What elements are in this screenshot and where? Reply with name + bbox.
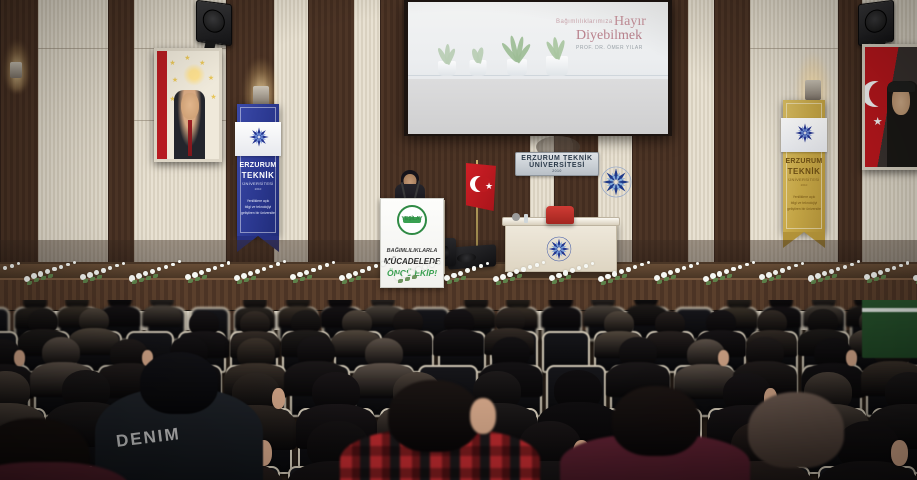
flower-leaf: [349, 278, 354, 282]
flower-leaf: [202, 275, 207, 279]
flower: [577, 266, 581, 270]
flower: [318, 265, 322, 269]
audience-shoulders: [142, 305, 182, 327]
audience-hand-clapping: [272, 388, 285, 409]
flower-leaf: [706, 281, 711, 285]
flower: [780, 268, 785, 273]
conference-hall-photo: ★ ★ ★ ★ ★ ★ ★ ★: [0, 0, 917, 480]
flower: [332, 261, 335, 264]
portrait-erdogan: ★ ★ ★ ★ ★ ★ ★: [154, 48, 222, 162]
flower-leaf: [48, 274, 53, 278]
table-water-bottle: [524, 214, 528, 223]
flower-leaf: [300, 277, 305, 281]
flower: [850, 263, 854, 267]
flower-leaf: [27, 281, 32, 285]
flower: [325, 263, 329, 267]
crescent-icon: [470, 176, 486, 192]
audience-hand-clapping: [846, 350, 857, 366]
crescent-icon: [862, 81, 888, 107]
banner-left-motto3: geliştiren bir üniversite: [237, 211, 279, 215]
flower: [227, 261, 230, 264]
flower: [836, 267, 840, 271]
flower-leaf: [83, 279, 88, 283]
slide-plant: [540, 34, 574, 76]
flower: [843, 265, 847, 269]
audience-hand-clapping: [891, 440, 908, 466]
university-emblem-banner: [794, 122, 816, 144]
flower-leaf: [671, 275, 676, 279]
banner-left-line1: ERZURUM: [237, 162, 279, 169]
flower-leaf: [34, 278, 39, 282]
flower: [731, 267, 736, 272]
table-microphone: [512, 213, 520, 221]
slide-plant: [500, 28, 534, 76]
flower: [213, 266, 217, 270]
stage-flower-arrangement: [0, 252, 917, 286]
flower-leaf: [776, 275, 781, 279]
flower: [437, 261, 440, 264]
flower: [374, 264, 378, 268]
flower: [906, 261, 909, 264]
slide-title-line2: Diyebilmek: [576, 28, 642, 44]
audience-head-hijab: [748, 392, 844, 468]
flower: [115, 264, 119, 268]
flower-leaf: [447, 280, 452, 284]
portrait-figure: [887, 81, 917, 167]
flower: [801, 262, 804, 265]
flower-leaf: [825, 276, 830, 280]
flower: [885, 268, 890, 273]
pa-speaker-right: [858, 0, 894, 46]
flower: [206, 268, 211, 273]
flower-leaf: [293, 279, 298, 283]
flower: [276, 262, 280, 266]
flower-leaf: [146, 276, 151, 280]
banner-right-line1: ERZURUM: [783, 158, 825, 165]
flower-leaf: [664, 277, 669, 281]
flower: [164, 265, 168, 269]
flower-leaf: [720, 276, 725, 280]
speaker-cone-icon: [865, 9, 887, 35]
flower: [486, 262, 489, 265]
flower-leaf: [139, 278, 144, 282]
flower: [682, 266, 686, 270]
wall-sconce-left: [253, 86, 269, 106]
flower-leaf: [601, 281, 606, 285]
jacket-stripe: [862, 308, 917, 312]
venue-sign-line3: 2010: [552, 169, 561, 173]
audience-seating-area: DENIM: [0, 300, 917, 480]
university-emblem-banner: [248, 126, 270, 148]
venue-sign-line1: ERZURUM TEKNİK: [521, 155, 592, 162]
star-icon: ★: [169, 60, 175, 67]
flower-leaf: [496, 281, 501, 285]
flower-leaf: [727, 274, 732, 278]
flower: [101, 268, 106, 273]
flower: [857, 260, 860, 263]
portrait-figure: [174, 90, 205, 159]
flower-leaf: [244, 278, 249, 282]
flower-leaf: [622, 274, 627, 278]
flower: [255, 269, 260, 274]
banner-left-motto2: bilgi ve teknolojiyi: [237, 205, 279, 209]
flower: [633, 265, 637, 269]
flower: [73, 261, 76, 264]
flower: [360, 269, 365, 274]
flower-leaf: [97, 275, 102, 279]
flower: [423, 265, 427, 269]
flower-leaf: [762, 279, 767, 283]
flower: [479, 264, 483, 268]
flower-leaf: [90, 277, 95, 281]
wall-sconce-far-left: [10, 62, 22, 78]
flower: [591, 262, 594, 265]
banner-right-line2: TEKNİK: [783, 167, 825, 176]
slide-presenter: PROF. DR. ÖMER YILAR: [576, 45, 643, 51]
banner-right-line4: 2010: [783, 183, 825, 187]
star-icon: ★: [184, 55, 190, 62]
audience-shoulders: [433, 329, 483, 356]
flower-cluster: [0, 252, 917, 286]
flower-leaf: [832, 274, 837, 278]
flower-leaf: [818, 278, 823, 282]
star-icon: ★: [485, 182, 493, 191]
flower: [220, 264, 224, 268]
flower: [542, 261, 545, 264]
flower: [17, 262, 20, 265]
flower: [367, 266, 371, 270]
flower-leaf: [510, 277, 515, 281]
flower-leaf: [769, 277, 774, 281]
flower-leaf: [132, 280, 137, 284]
flower: [738, 265, 742, 269]
wall-panel-seam: [38, 48, 108, 49]
audience-head: [140, 352, 218, 414]
audience-head: [388, 380, 480, 452]
flower-leaf: [552, 280, 557, 284]
wall-sconce-right: [805, 80, 821, 100]
flower: [388, 260, 391, 263]
flower-leaf: [811, 280, 816, 284]
banner-right-motto3: geliştiren bir üniversite: [783, 207, 825, 211]
star-icon: ★: [210, 94, 216, 101]
flower-leaf: [566, 275, 571, 279]
flower: [752, 261, 755, 264]
projection-screen-lower: [408, 79, 668, 134]
flower: [458, 271, 463, 276]
flower: [157, 267, 161, 271]
banner-left-blue: ERZURUM TEKNİK ÜNİVERSİTESİ 2010 Yenilik…: [237, 104, 279, 236]
flower-leaf: [405, 277, 410, 281]
flower: [269, 265, 273, 269]
flower: [899, 264, 903, 268]
flower: [59, 265, 63, 269]
flower-leaf: [251, 276, 256, 280]
flower: [626, 267, 631, 272]
flower: [794, 264, 798, 268]
flower-leaf: [867, 279, 872, 283]
pa-speaker-left: [196, 0, 232, 46]
flower-leaf: [657, 280, 662, 284]
flower: [171, 263, 175, 267]
flower-leaf: [195, 277, 200, 281]
audience-head: [612, 386, 700, 456]
flower: [66, 263, 70, 267]
star-icon: ★: [208, 75, 214, 82]
flower: [787, 266, 791, 270]
flower: [535, 263, 539, 267]
audience-hand-clapping: [718, 350, 729, 366]
flower: [381, 262, 385, 266]
flower: [409, 270, 414, 275]
flower-leaf: [307, 275, 312, 279]
flower-leaf: [517, 274, 522, 278]
flower-leaf: [874, 277, 879, 281]
flower: [262, 267, 266, 271]
flower-leaf: [412, 275, 417, 279]
flower: [465, 268, 470, 273]
flower-leaf: [153, 274, 158, 278]
flower: [521, 267, 526, 272]
flower: [675, 268, 680, 273]
flower-leaf: [713, 278, 718, 282]
flower-leaf: [188, 279, 193, 283]
audience-hand-clapping: [14, 350, 25, 366]
flower: [108, 266, 112, 270]
flower: [647, 261, 650, 264]
flower: [892, 266, 896, 270]
venue-sign-line2: ÜNİVERSİTESİ: [529, 162, 585, 169]
banner-left-motto1: Yeniliklere açık: [237, 199, 279, 203]
flower: [584, 264, 588, 268]
slide-eyebrow: Bağımlılıklarımıza: [556, 19, 613, 25]
flower: [178, 260, 181, 263]
flower-leaf: [356, 276, 361, 280]
flower: [311, 268, 316, 273]
flower: [745, 263, 749, 267]
flower: [430, 263, 434, 267]
flower: [570, 268, 575, 273]
banner-left-line3: ÜNİVERSİTESİ: [237, 181, 279, 186]
university-emblem-wall: [600, 166, 632, 198]
flower: [52, 267, 57, 272]
banner-right-motto1: Yeniliklere açık: [783, 195, 825, 199]
speaker-cone-icon: [203, 9, 225, 35]
wall-panel-seam: [750, 48, 838, 49]
flower-leaf: [342, 280, 347, 284]
flower-leaf: [881, 275, 886, 279]
flower-leaf: [454, 278, 459, 282]
star-icon: ★: [873, 119, 883, 126]
flower-leaf: [559, 278, 564, 282]
flower-leaf: [461, 276, 466, 280]
flower-leaf: [608, 279, 613, 283]
flower: [528, 265, 532, 269]
turkish-flag: ★: [466, 163, 496, 211]
star-icon: ★: [199, 60, 205, 67]
flower-leaf: [615, 276, 620, 280]
star-icon: ★: [172, 77, 178, 84]
venue-wall-sign: ERZURUM TEKNİK ÜNİVERSİTESİ 2010: [515, 152, 599, 176]
projection-screen: Bağımlılıklarımıza Hayır Diyebilmek PROF…: [408, 2, 668, 134]
flower-leaf: [237, 280, 242, 284]
banner-left-line4: 2010: [237, 187, 279, 191]
banner-right-motto2: bilgi ve teknolojiyi: [783, 201, 825, 205]
flower: [696, 262, 699, 265]
yesilay-logo-text: YEŞİLAY: [381, 216, 443, 222]
audience-hand-clapping: [470, 398, 496, 434]
flower-leaf: [503, 279, 508, 283]
flower-leaf: [398, 279, 403, 283]
banner-left-line2: TEKNİK: [237, 171, 279, 180]
flower: [472, 266, 476, 270]
flower: [122, 262, 125, 265]
flower: [640, 263, 644, 267]
flower: [689, 264, 693, 268]
flower: [416, 267, 421, 272]
portrait-ataturk: ★: [862, 44, 917, 170]
flower: [3, 266, 7, 270]
yesilay-volunteer-jacket: [862, 300, 917, 358]
audience-shoulders: [541, 306, 581, 328]
banner-right-gold: ERZURUM TEKNİK ÜNİVERSİTESİ 2010 Yenilik…: [783, 100, 825, 232]
flower: [283, 260, 286, 263]
banner-right-line3: ÜNİVERSİTESİ: [783, 177, 825, 182]
red-chair: [546, 206, 574, 224]
slide-plant: [466, 38, 490, 76]
flower-leaf: [41, 276, 46, 280]
flower: [10, 264, 14, 268]
slide-plant: [434, 36, 460, 76]
